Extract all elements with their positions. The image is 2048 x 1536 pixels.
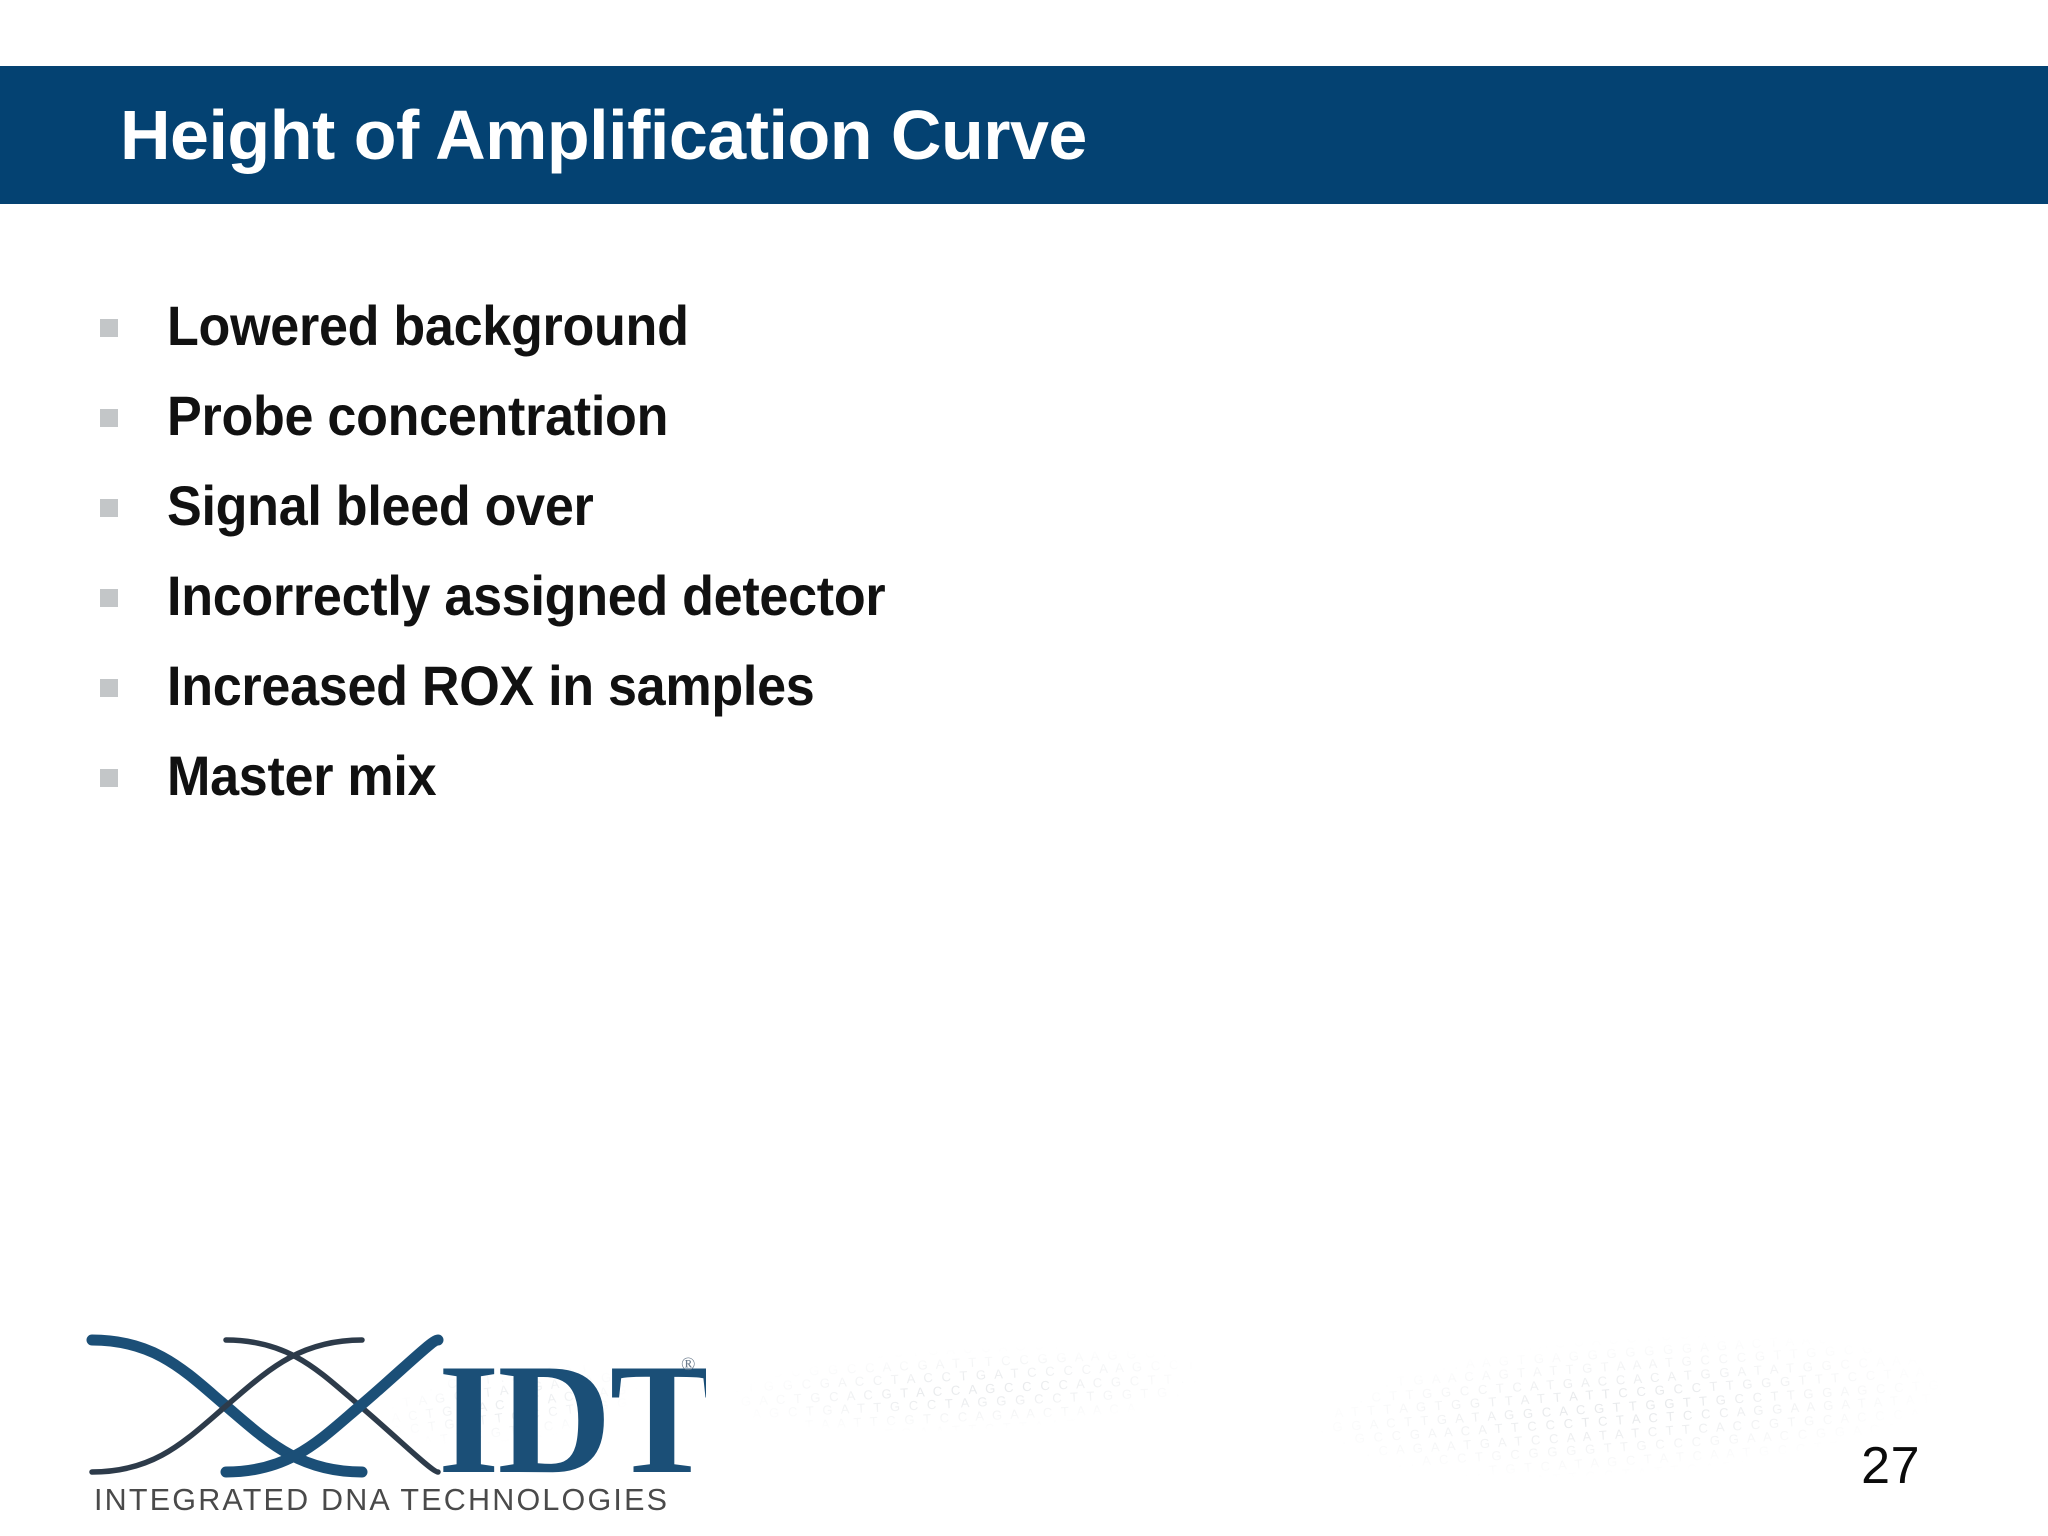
square-bullet-icon (100, 769, 118, 787)
square-bullet-icon (100, 499, 118, 517)
square-bullet-icon (100, 409, 118, 427)
square-bullet-icon (100, 679, 118, 697)
bullet-list: Lowered background Probe concentration S… (100, 281, 1700, 821)
dna-helix-icon (92, 1340, 438, 1472)
list-item: Incorrectly assigned detector (100, 551, 1700, 641)
list-item-label: Increased ROX in samples (167, 658, 814, 714)
list-item: Signal bleed over (100, 461, 1700, 551)
list-item-label: Incorrectly assigned detector (167, 568, 885, 624)
idt-wordmark: IDT (438, 1332, 706, 1507)
square-bullet-icon (100, 589, 118, 607)
registered-trademark-icon: ® (681, 1354, 695, 1375)
idt-tagline: INTEGRATED DNA TECHNOLOGIES (94, 1483, 669, 1514)
square-bullet-icon (100, 319, 118, 337)
page-number: 27 (1861, 1436, 1920, 1496)
watermark-sequence-block: . . A A C G A C C T C G A A C T A A C C … (1256, 1316, 2048, 1506)
list-item-label: Lowered background (167, 298, 689, 354)
list-item-label: Signal bleed over (167, 478, 594, 534)
watermark-sequence-block: . . A C C T G A C C A G C T A G T . . . … (648, 1325, 1292, 1453)
list-item: Increased ROX in samples (100, 641, 1700, 731)
list-item-label: Probe concentration (167, 388, 668, 444)
list-item-label: Master mix (167, 748, 436, 804)
idt-logo: IDT ® INTEGRATED DNA TECHNOLOGIES (86, 1324, 706, 1514)
list-item: Lowered background (100, 281, 1700, 371)
list-item: Master mix (100, 731, 1700, 821)
page-title: Height of Amplification Curve (120, 100, 1087, 170)
slide-canvas: Height of Amplification Curve Lowered ba… (0, 0, 2048, 1536)
slide-title-bar: Height of Amplification Curve (0, 66, 2048, 204)
list-item: Probe concentration (100, 371, 1700, 461)
